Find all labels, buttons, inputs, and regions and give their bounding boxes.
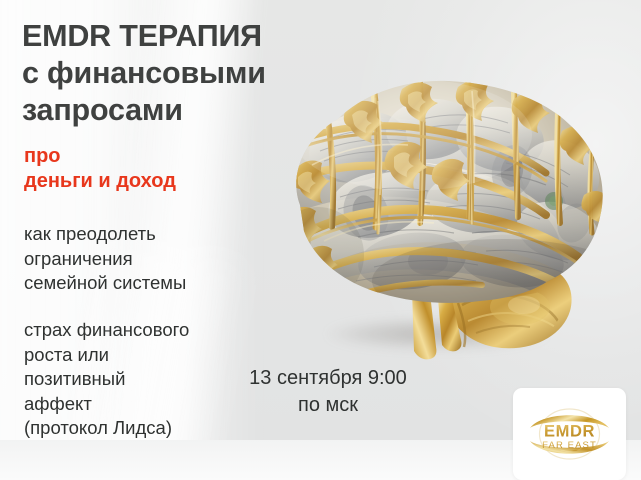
topic-one-line-3: семейной системы [24, 271, 264, 296]
emdr-far-east-logo-icon: EMDR FAR EAST [521, 394, 618, 474]
topic-two-line-5: (протокол Лидса) [24, 416, 264, 441]
page-title: EMDR ТЕРАПИЯ с финансовыми запросами [22, 18, 322, 129]
headline-line-3: запросами [22, 92, 322, 129]
accent-subtitle: про деньги и доход [24, 144, 304, 194]
headline-line-1: EMDR ТЕРАПИЯ [22, 18, 322, 55]
topic-two-line-2: роста или [24, 343, 264, 368]
accent-line-1: про [24, 144, 304, 169]
event-timezone-line: по мск [228, 392, 428, 419]
promo-poster: EMDR ТЕРАПИЯ с финансовыми запросами про… [0, 0, 641, 480]
logo-name-bottom: FAR EAST [542, 440, 597, 451]
logo-name-top: EMDR [544, 423, 595, 441]
topic-paragraph-one: как преодолеть ограничения семейной сист… [24, 222, 264, 296]
event-date-line: 13 сентября 9:00 [228, 365, 428, 392]
brand-logo-card: EMDR FAR EAST [513, 388, 626, 480]
headline-line-2: с финансовыми [22, 55, 322, 92]
topic-one-line-1: как преодолеть [24, 222, 264, 247]
event-datetime: 13 сентября 9:00 по мск [228, 365, 428, 419]
topic-one-line-2: ограничения [24, 247, 264, 272]
accent-line-2: деньги и доход [24, 169, 304, 194]
topic-two-line-1: страх финансового [24, 318, 264, 343]
